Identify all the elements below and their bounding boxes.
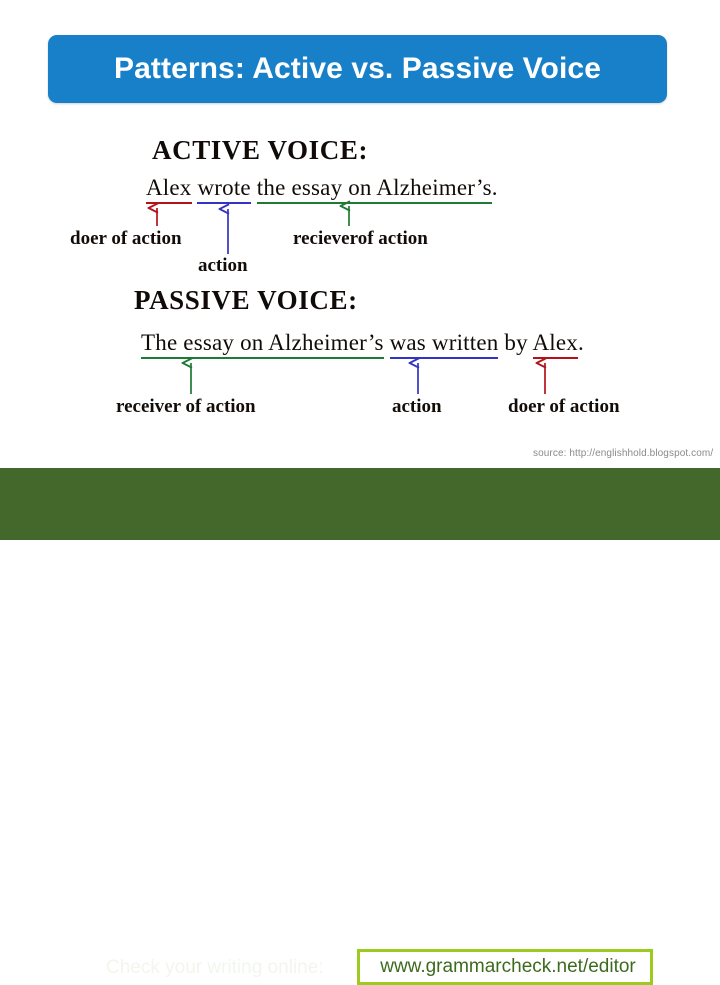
active-annotation-receiver: recieverof action: [293, 228, 428, 250]
footer-cta-text: Check your writing online:: [106, 957, 324, 979]
active-segment-doer: Alex: [146, 175, 192, 204]
passive-annotation-doer: doer of action: [508, 396, 620, 418]
active-segment-receiver: the essay on Alzheimer’s: [257, 175, 492, 204]
passive-segment-period: .: [578, 330, 584, 355]
passive-voice-heading: PASSIVE VOICE:: [134, 285, 358, 316]
source-credit: source: http://englishhold.blogspot.com/: [533, 448, 713, 459]
voice-diagram: ACTIVE VOICE: Alex wrote the essay on Al…: [0, 0, 720, 470]
passive-segment-receiver: The essay on Alzheimer’s: [141, 330, 384, 359]
active-annotation-action: action: [198, 255, 248, 277]
footer-url-text[interactable]: www.grammarcheck.net/editor: [360, 952, 656, 982]
slide-canvas: Patterns: Active vs. Passive Voice ACTIV…: [0, 0, 720, 540]
footer-bar: Check your writing online: www.grammarch…: [0, 468, 720, 540]
passive-segment-doer: Alex: [533, 330, 579, 359]
passive-segment-preposition: by: [504, 330, 527, 355]
active-voice-heading: ACTIVE VOICE:: [152, 135, 368, 166]
passive-annotation-action: action: [392, 396, 442, 418]
active-annotation-doer: doer of action: [70, 228, 182, 250]
active-voice-sentence: Alex wrote the essay on Alzheimer’s.: [146, 175, 498, 201]
passive-annotation-receiver: receiver of action: [116, 396, 256, 418]
active-segment-action: wrote: [197, 175, 250, 204]
active-segment-period: .: [492, 175, 498, 200]
passive-segment-action: was written: [390, 330, 499, 359]
footer-url-box[interactable]: www.grammarcheck.net/editor: [357, 949, 653, 985]
passive-voice-sentence: The essay on Alzheimer’s was written by …: [141, 330, 584, 356]
